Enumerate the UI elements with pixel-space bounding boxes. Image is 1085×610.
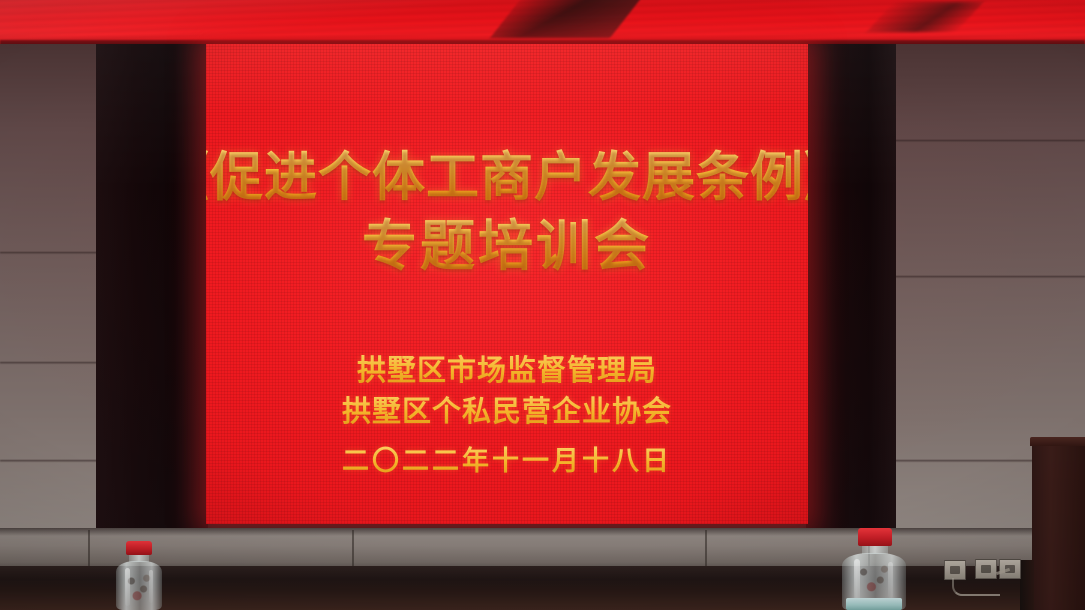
wooden-podium [1032, 437, 1085, 610]
organizer-line-1: 拱墅区市场监督管理局 [342, 350, 672, 391]
wainscot-seam [352, 530, 354, 570]
wall-seam [893, 140, 1085, 142]
wall-seam [0, 362, 100, 364]
bottle-label [846, 598, 902, 610]
bottle-highlight [854, 559, 860, 601]
bottle-highlight [125, 568, 130, 606]
wall-seam [0, 252, 100, 254]
bottle-cap [858, 528, 892, 546]
led-screen-content: 《促进个体工商户发展条例》 专题培训会 拱墅区市场监督管理局 拱墅区个私民营企业… [206, 44, 808, 524]
podium-leg [1020, 560, 1034, 610]
water-bottle-left [112, 541, 166, 610]
right-dark-column [806, 44, 896, 532]
podium-top-edge [1030, 437, 1085, 446]
column-sheen [96, 44, 208, 532]
event-title-block: 《促进个体工商户发展条例》 专题培训会 [206, 144, 808, 280]
event-title-line-1: 《促进个体工商户发展条例》 [206, 144, 808, 212]
left-dark-column [96, 44, 208, 532]
water-bottle-right [840, 528, 910, 610]
wall-seam [0, 460, 100, 462]
bottle-cap [126, 541, 152, 555]
bottle-body [116, 561, 162, 610]
column-sheen [806, 44, 896, 532]
bottle-highlight-2 [149, 570, 153, 603]
wainscot-top-shadow [0, 528, 1085, 536]
led-display-screen: 《促进个体工商户发展条例》 专题培训会 拱墅区市场监督管理局 拱墅区个私民营企业… [206, 44, 808, 524]
event-date: 二〇二二年十一月十八日 [342, 444, 672, 480]
socket-hole [950, 566, 960, 574]
bottle-body [842, 553, 906, 610]
wainscot-seam [705, 530, 707, 570]
event-title-line-2: 专题培训会 [206, 212, 808, 280]
organizer-line-2: 拱墅区个私民营企业协会 [342, 391, 672, 432]
switch-rocker [981, 565, 991, 573]
wall-switch-icon [975, 559, 997, 579]
wainscot-seam [88, 530, 90, 570]
organizer-block: 拱墅区市场监督管理局 拱墅区个私民营企业协会 二〇二二年十一月十八日 [342, 350, 672, 480]
left-wall-panel [0, 44, 100, 574]
conference-room-photo: 《促进个体工商户发展条例》 专题培训会 拱墅区市场监督管理局 拱墅区个私民营企业… [0, 0, 1085, 610]
wall-seam [893, 276, 1085, 278]
bottle-highlight-2 [888, 562, 893, 598]
wall-socket-icon [944, 560, 966, 580]
power-cable [952, 578, 1000, 596]
